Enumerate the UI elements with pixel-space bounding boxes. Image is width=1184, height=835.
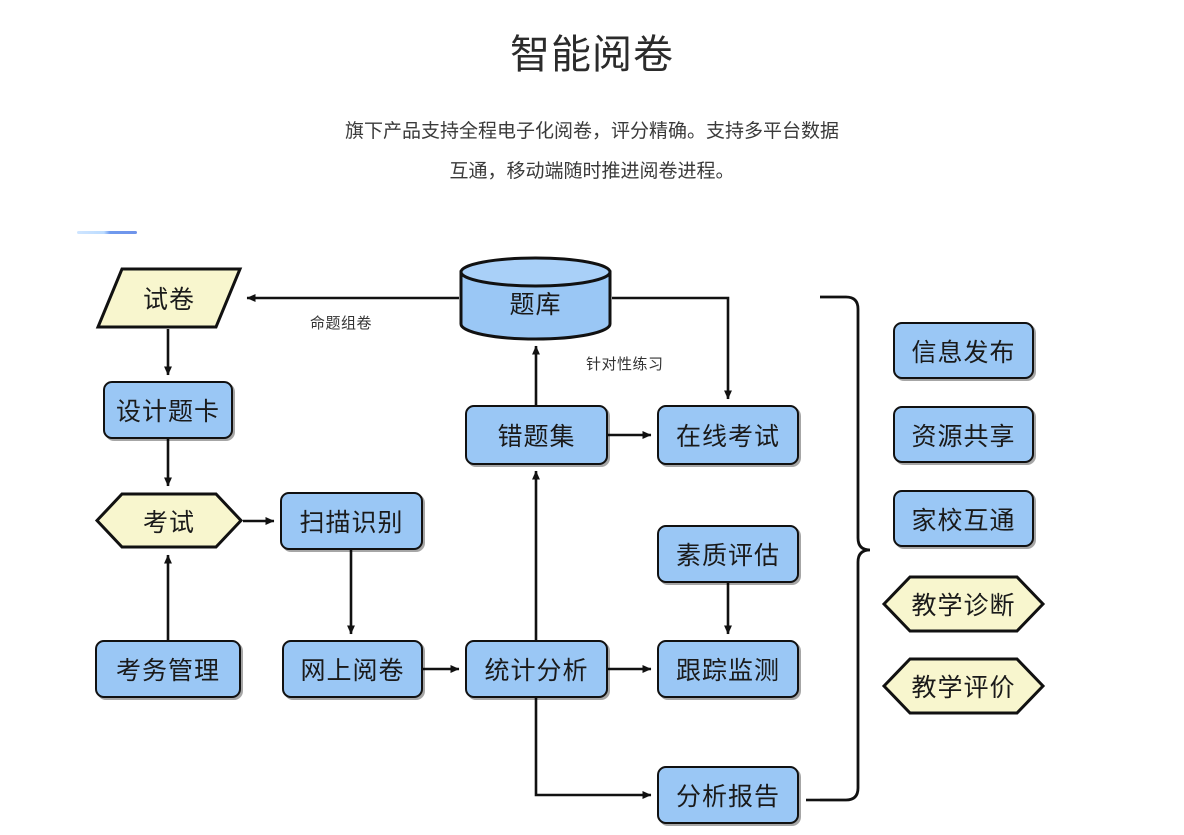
node-genzong-jiance-label: 跟踪监测 bbox=[676, 651, 780, 687]
node-tiku[interactable]: 题库 bbox=[459, 256, 612, 340]
node-jiaxiao-hutong-label: 家校互通 bbox=[911, 501, 1015, 537]
node-jiaxiao-hutong[interactable]: 家校互通 bbox=[893, 490, 1034, 547]
node-suzhi-pinggu[interactable]: 素质评估 bbox=[657, 525, 799, 583]
node-jiaoxue-pingjia[interactable]: 教学评价 bbox=[882, 657, 1045, 715]
node-fenxi-baogao-label: 分析报告 bbox=[676, 777, 780, 813]
group-brace bbox=[820, 297, 870, 800]
node-shijuan[interactable]: 试卷 bbox=[96, 267, 242, 329]
node-zaixian-kaoshi-label: 在线考试 bbox=[676, 417, 780, 453]
node-zaixian-kaoshi[interactable]: 在线考试 bbox=[657, 405, 799, 465]
diagram-page: 智能阅卷 旗下产品支持全程电子化阅卷，评分精确。支持多平台数据 互通，移动端随时… bbox=[0, 0, 1184, 835]
node-tongji-fenxi[interactable]: 统计分析 bbox=[465, 640, 608, 698]
node-xinxi-fabu-label: 信息发布 bbox=[911, 333, 1015, 369]
node-kaoshi[interactable]: 考试 bbox=[95, 492, 243, 549]
edge-tongji-fenxi bbox=[536, 698, 651, 795]
node-sheji-tika-label: 设计题卡 bbox=[116, 392, 220, 428]
node-kaowu-guanli-label: 考务管理 bbox=[116, 651, 220, 687]
node-ziyuan-gongxiang[interactable]: 资源共享 bbox=[893, 406, 1034, 463]
edge-label-zhendui-lianxi: 针对性练习 bbox=[586, 353, 664, 374]
node-cuotiji-label: 错题集 bbox=[497, 417, 575, 453]
node-cuotiji[interactable]: 错题集 bbox=[465, 405, 608, 465]
node-ziyuan-gongxiang-label: 资源共享 bbox=[911, 417, 1015, 453]
node-suzhi-pinggu-label: 素质评估 bbox=[676, 536, 780, 572]
edge-tiku-zaixian bbox=[612, 298, 728, 399]
node-wangshang-yuejuan[interactable]: 网上阅卷 bbox=[282, 640, 423, 698]
node-kaowu-guanli[interactable]: 考务管理 bbox=[95, 640, 241, 698]
node-xinxi-fabu[interactable]: 信息发布 bbox=[893, 322, 1034, 379]
node-tongji-fenxi-label: 统计分析 bbox=[484, 651, 588, 687]
node-sheji-tika[interactable]: 设计题卡 bbox=[103, 381, 233, 439]
node-wangshang-yuejuan-label: 网上阅卷 bbox=[300, 651, 404, 687]
node-jiaoxue-zhenduan[interactable]: 教学诊断 bbox=[882, 575, 1045, 633]
node-fenxi-baogao[interactable]: 分析报告 bbox=[657, 766, 799, 824]
node-saomiao-shibie[interactable]: 扫描识别 bbox=[280, 492, 423, 550]
edge-label-mingti-zujuan: 命题组卷 bbox=[310, 312, 372, 333]
node-saomiao-shibie-label: 扫描识别 bbox=[299, 503, 403, 539]
node-genzong-jiance[interactable]: 跟踪监测 bbox=[657, 640, 799, 698]
